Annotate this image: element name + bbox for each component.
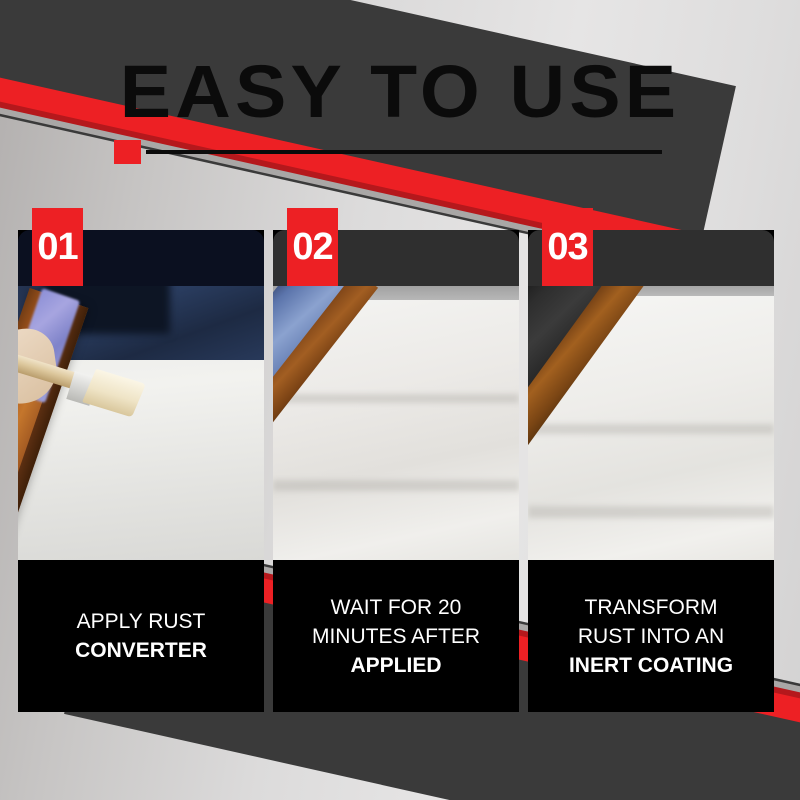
- step-number-badge-01: 01: [32, 208, 83, 286]
- step-caption-01: APPLY RUST CONVERTER: [18, 560, 264, 712]
- step-caption-03: TRANSFORM RUST INTO AN INERT COATING: [528, 560, 774, 712]
- caption-line: TRANSFORM: [585, 593, 718, 622]
- step-photo-03: [528, 274, 774, 560]
- cloth-fold: [528, 506, 774, 518]
- cloth-fold: [273, 394, 519, 403]
- step-card-01[interactable]: 01 APPLY RUST CONVERTER: [18, 230, 264, 712]
- cloth-fold: [528, 424, 774, 434]
- caption-emphasis: APPLIED: [350, 651, 441, 680]
- step-number-badge-02: 02: [287, 208, 338, 286]
- caption-line: APPLY RUST: [77, 607, 206, 636]
- cloth-fold: [273, 480, 519, 491]
- title-rule-red-square: [114, 140, 141, 164]
- caption-line: RUST INTO AN: [578, 622, 724, 651]
- title-rule-line: [146, 150, 662, 154]
- poster-canvas: EASY TO USE: [0, 0, 800, 800]
- step-card-03[interactable]: 03 TRANSFORM RUST INTO AN INERT COATING: [528, 230, 774, 712]
- step-number-label: 03: [547, 228, 587, 266]
- caption-emphasis: INERT COATING: [569, 651, 733, 680]
- caption-emphasis: CONVERTER: [75, 636, 207, 665]
- page-title: EASY TO USE: [0, 52, 800, 132]
- step-photo-02: [273, 274, 519, 560]
- caption-line: MINUTES AFTER: [312, 622, 480, 651]
- title-rule: [114, 140, 674, 166]
- step-number-label: 01: [37, 228, 77, 266]
- step-caption-02: WAIT FOR 20 MINUTES AFTER APPLIED: [273, 560, 519, 712]
- caption-line: WAIT FOR 20: [331, 593, 462, 622]
- step-number-label: 02: [292, 228, 332, 266]
- steps-row: 01 APPLY RUST CONVERTER: [18, 230, 782, 712]
- step-photo-01: [18, 274, 264, 560]
- step-card-02[interactable]: 02 WAIT FOR 20 MINUTES AFTER APPLIED: [273, 230, 519, 712]
- heading-block: EASY TO USE: [0, 52, 800, 132]
- step-number-badge-03: 03: [542, 208, 593, 286]
